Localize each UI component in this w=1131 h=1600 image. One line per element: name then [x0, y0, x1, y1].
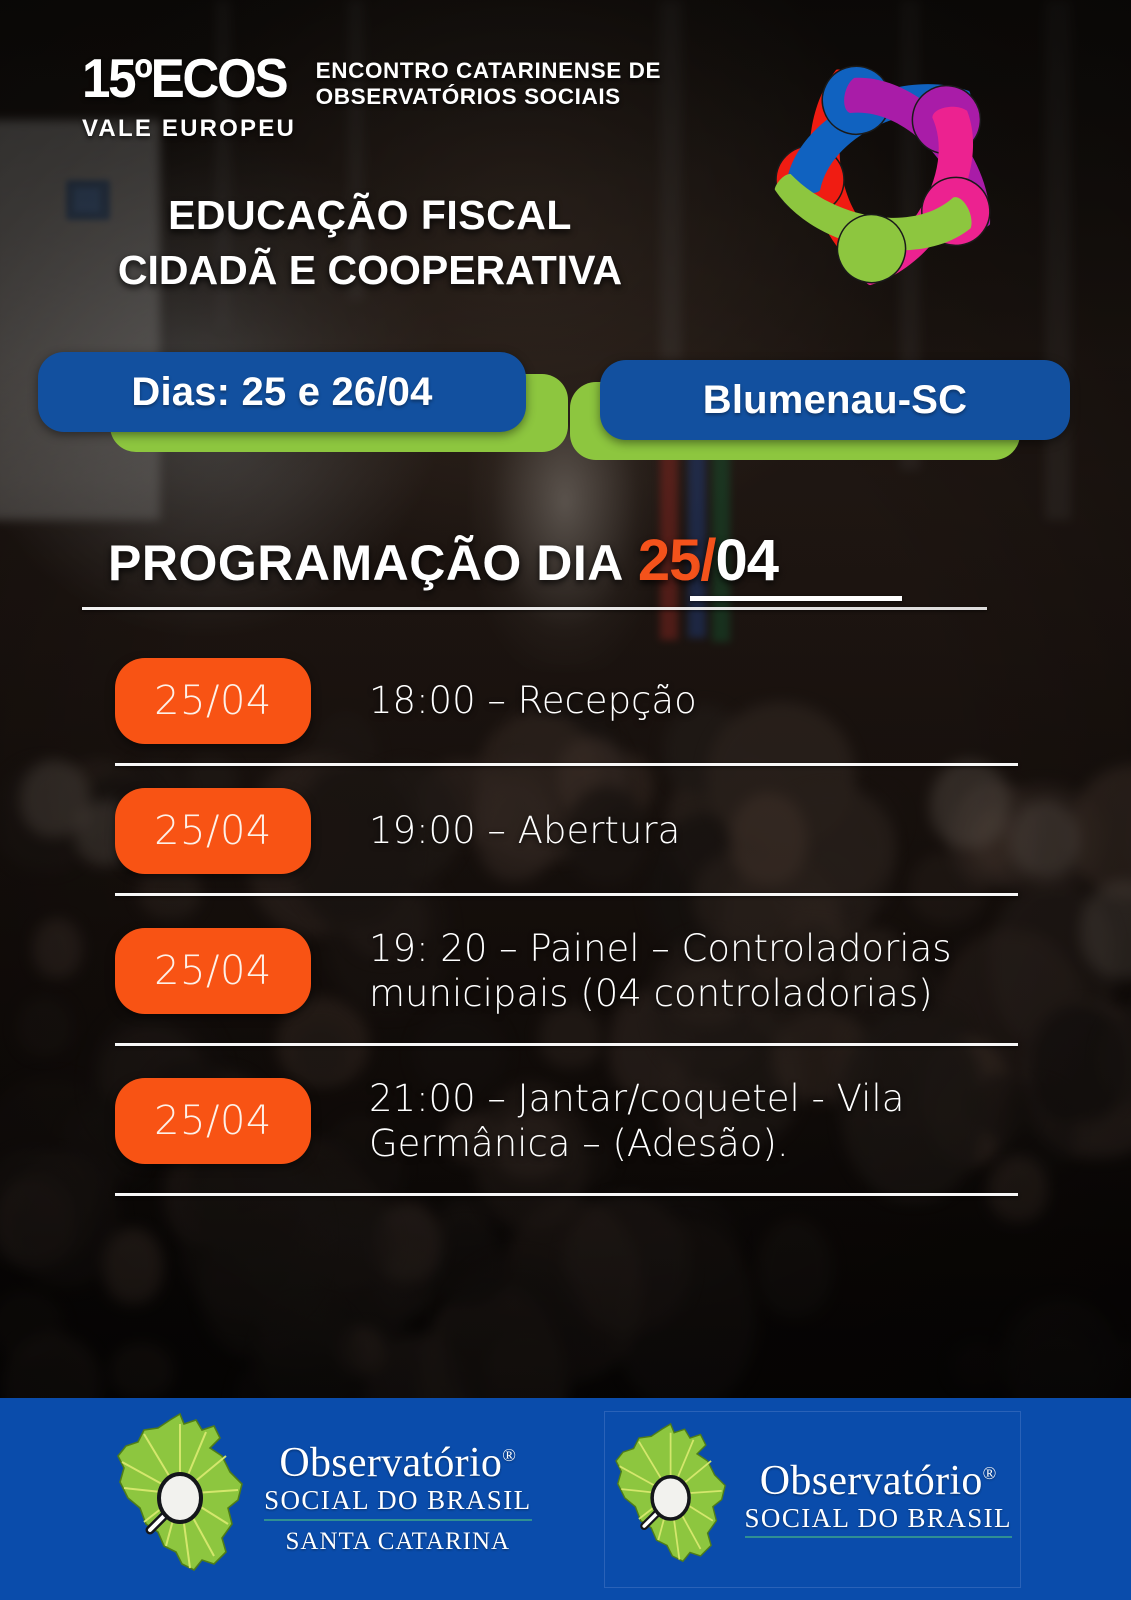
- programme-heading: PROGRAMAÇÃO DIA 25/04: [108, 527, 778, 594]
- event-region: VALE EUROPEU: [82, 115, 661, 143]
- schedule-row-divider: [115, 1193, 1018, 1196]
- programme-heading-prefix: PROGRAMAÇÃO DIA: [108, 534, 624, 592]
- footer-logo-subtitle: SOCIAL DO BRASIL: [264, 1486, 531, 1516]
- programme-heading-underline: [690, 596, 902, 601]
- schedule-row-text: 19:00 – Abertura: [369, 808, 680, 853]
- programme-heading-day: 25: [638, 528, 701, 593]
- event-logotype: 15ºECOS ENCONTRO CATARINENSE DE OBSERVAT…: [82, 52, 661, 143]
- page-title-line1: EDUCAÇÃO FISCAL: [0, 188, 740, 243]
- programme-heading-rule: [82, 607, 987, 610]
- schedule-row-text: 21:00 – Jantar/coquetel - Vila Germânica…: [369, 1076, 1049, 1166]
- schedule-list: 25/0418:00 – Recepção25/0419:00 – Abertu…: [0, 636, 1131, 1196]
- five-people-circle-logo: [716, 14, 1060, 334]
- event-edition-acronym: 15ºECOS: [82, 52, 286, 105]
- registered-mark: ®: [983, 1463, 997, 1483]
- schedule-row-text: 18:00 – Recepção: [369, 678, 697, 723]
- schedule-row: 25/0421:00 – Jantar/coquetel - Vila Germ…: [0, 1046, 1131, 1196]
- footer-logo-state: SANTA CATARINA: [285, 1528, 510, 1556]
- dates-badge: Dias: 25 e 26/04: [38, 352, 558, 452]
- event-subtitle-line1: ENCONTRO CATARINENSE DE: [316, 58, 661, 84]
- programme-heading-month: 04: [715, 528, 778, 593]
- programme-heading-date: 25/04: [638, 527, 778, 594]
- event-subtitle: ENCONTRO CATARINENSE DE OBSERVATÓRIOS SO…: [316, 52, 661, 109]
- schedule-row: 25/0419: 20 – Painel – Controladorias mu…: [0, 896, 1131, 1046]
- schedule-row-date-pill: 25/04: [115, 928, 311, 1014]
- footer-logo-name-text: Observatório: [760, 1458, 983, 1504]
- page-title: EDUCAÇÃO FISCAL CIDADÃ E COOPERATIVA: [0, 188, 740, 299]
- footer-logo-name: Observatório®: [279, 1442, 516, 1484]
- programme-heading-sep: /: [700, 528, 715, 593]
- location-badge-label: Blumenau-SC: [600, 360, 1070, 440]
- footer-logo-text: Observatório® SOCIAL DO BRASIL: [745, 1460, 1012, 1539]
- footer-logo-brasil: Observatório® SOCIAL DO BRASIL: [604, 1411, 1021, 1588]
- footer-logo-name-text: Observatório: [279, 1440, 502, 1486]
- page-title-line2: CIDADÃ E COOPERATIVA: [0, 243, 740, 298]
- schedule-row-date-pill: 25/04: [115, 658, 311, 744]
- footer-logo-name: Observatório®: [760, 1460, 997, 1502]
- brazil-map-magnifier-icon: [110, 1412, 260, 1587]
- footer: Observatório® SOCIAL DO BRASIL SANTA CAT…: [0, 1398, 1131, 1600]
- footer-logo-divider: [264, 1519, 531, 1521]
- schedule-row: 25/0418:00 – Recepção: [0, 636, 1131, 766]
- brazil-map-magnifier-icon: [609, 1422, 741, 1577]
- footer-logo-divider: [745, 1536, 1012, 1538]
- footer-logo-text: Observatório® SOCIAL DO BRASIL SANTA CAT…: [264, 1442, 531, 1556]
- footer-logo-subtitle: SOCIAL DO BRASIL: [745, 1504, 1012, 1534]
- footer-logo-santa-catarina: Observatório® SOCIAL DO BRASIL SANTA CAT…: [110, 1412, 531, 1587]
- dates-badge-label: Dias: 25 e 26/04: [38, 352, 526, 432]
- registered-mark: ®: [502, 1445, 516, 1465]
- schedule-row-date-pill: 25/04: [115, 1078, 311, 1164]
- schedule-row-text: 19: 20 – Painel – Controladorias municip…: [369, 926, 1049, 1016]
- poster-root: 15ºECOS ENCONTRO CATARINENSE DE OBSERVAT…: [0, 0, 1131, 1600]
- event-subtitle-line2: OBSERVATÓRIOS SOCIAIS: [316, 84, 661, 110]
- schedule-row-date-pill: 25/04: [115, 788, 311, 874]
- schedule-row: 25/0419:00 – Abertura: [0, 766, 1131, 896]
- location-badge: Blumenau-SC: [570, 360, 1080, 460]
